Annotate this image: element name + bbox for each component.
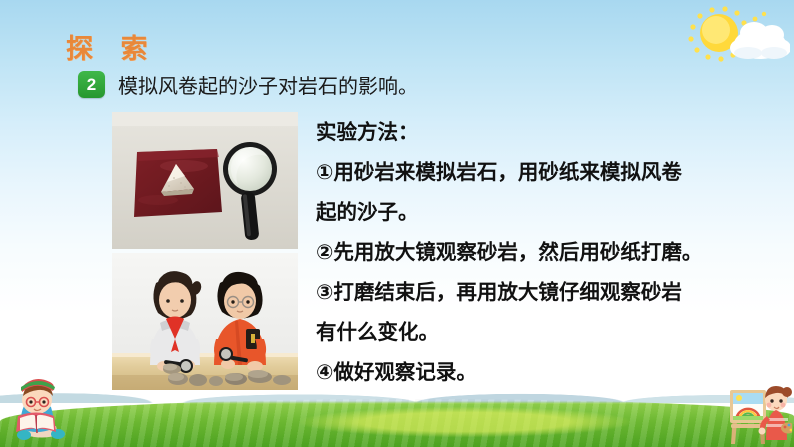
instruction-step: ④做好观察记录。: [316, 352, 782, 392]
step-number-badge: 2: [78, 71, 105, 98]
sun-cloud-icon: [688, 6, 790, 64]
grass-highlight: [300, 407, 630, 437]
kid-reading-icon: [4, 378, 78, 444]
students-observing-rocks-photo: [112, 253, 298, 390]
instructions-label: 实验方法：: [316, 112, 782, 152]
instruction-step: ③打磨结束后，再用放大镜仔细观察砂岩: [316, 272, 782, 312]
grass-field: [0, 399, 794, 447]
instruction-step: 有什么变化。: [316, 312, 782, 352]
numbered-heading: 2 模拟风卷起的沙子对岩石的影响。: [78, 70, 418, 99]
instruction-step: ②先用放大镜观察砂岩，然后用砂纸打磨。: [316, 232, 782, 272]
sandpaper-rock-magnifier-photo: [112, 112, 298, 249]
experiment-instructions: 实验方法： ①用砂岩来模拟岩石，用砂纸来模拟风卷 起的沙子。 ②先用放大镜观察砂…: [316, 112, 782, 392]
instruction-step: 起的沙子。: [316, 192, 782, 232]
heading-text: 模拟风卷起的沙子对岩石的影响。: [118, 70, 418, 99]
page-title: 探 索: [66, 27, 158, 66]
instruction-step: ①用砂岩来模拟岩石，用砂纸来模拟风卷: [316, 152, 782, 192]
kid-painting-easel-icon: [726, 378, 792, 446]
